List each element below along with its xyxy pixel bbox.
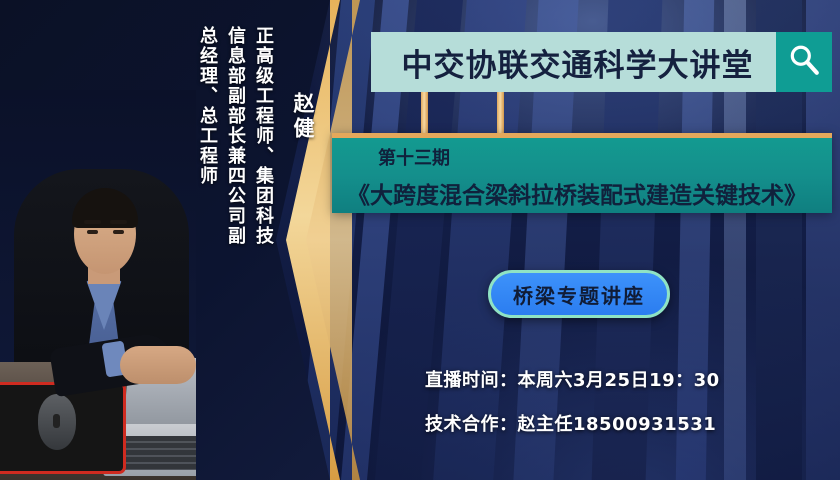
speaker-title-line-2: 信息部副部长兼四公司副	[222, 26, 248, 246]
contact-info: 技术合作：赵主任18500931531	[425, 410, 716, 436]
speaker-photo	[0, 90, 196, 480]
category-badge[interactable]: 桥梁专题讲座	[488, 270, 670, 318]
speaker-name: 赵健	[288, 92, 318, 142]
topic-label: 《大跨度混合梁斜拉桥装配式建造关键技术》	[332, 176, 822, 210]
livestream-poster: 赵健 正高级工程师、集团科技 信息部副部长兼四公司副 总经理、总工程师 中交协联…	[0, 0, 840, 480]
title-bar: 中交协联交通科学大讲堂	[371, 32, 832, 92]
gold-accent-bar-2	[497, 92, 504, 136]
speaker-title-line-3: 总经理、总工程师	[194, 26, 220, 186]
episode-label: 第十三期	[378, 144, 822, 170]
page-title: 中交协联交通科学大讲堂	[371, 40, 776, 85]
broadcast-time: 直播时间：本周六3月25日19：30	[425, 366, 720, 392]
search-button[interactable]	[776, 32, 832, 92]
search-icon	[787, 43, 821, 81]
gold-accent-bar-1	[421, 92, 428, 136]
speaker-title-line-1: 正高级工程师、集团科技	[250, 26, 276, 246]
subtitle-banner: 第十三期 《大跨度混合梁斜拉桥装配式建造关键技术》	[332, 133, 832, 213]
